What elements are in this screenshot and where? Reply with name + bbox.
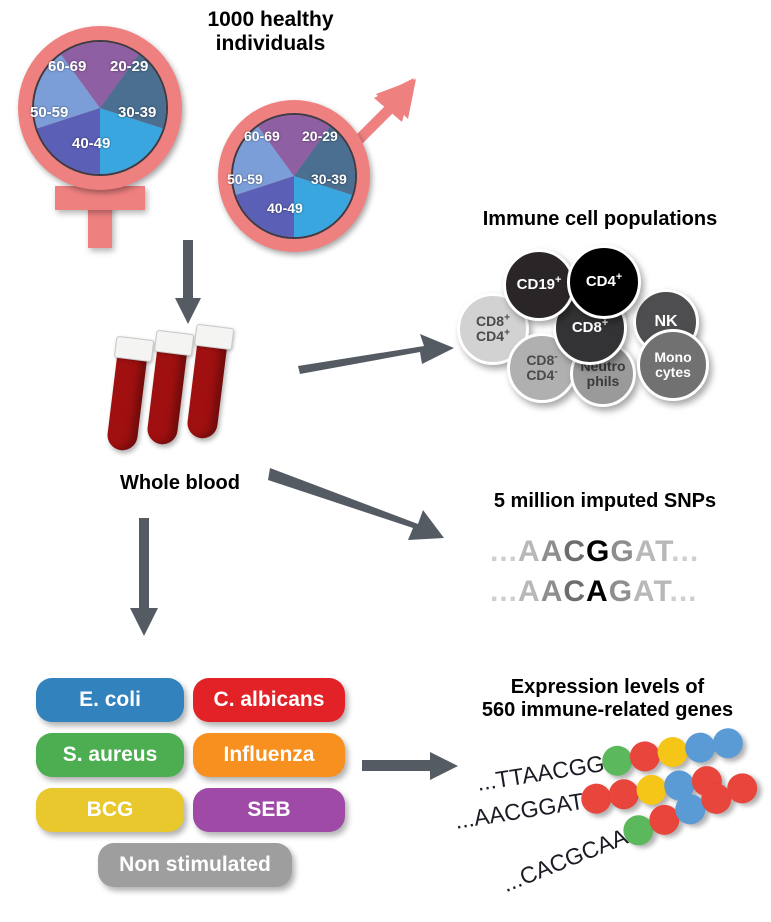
cell-cd4pos: CD4+: [567, 245, 641, 319]
pie-label-30-39: 30-39: [118, 104, 156, 121]
gene-strands: ...TTAACGG ...AACGGAT ...CACGCAA: [455, 740, 765, 910]
snps-title: 5 million imputed SNPs: [450, 490, 760, 513]
pie-label-40-49: 40-49: [267, 200, 303, 216]
cell-monocytes: Mono cytes: [637, 329, 709, 401]
cell-label: CD19+: [517, 277, 562, 293]
expression-title-line2: 560 immune-related genes: [450, 699, 765, 722]
snp-dots-left: ...: [490, 575, 518, 608]
gene-bead: [607, 777, 641, 811]
stimulus-e-coli[interactable]: E. coli: [36, 678, 184, 722]
snp-variant-1: G: [586, 535, 610, 568]
stimulus-label: Non stimulated: [119, 853, 271, 877]
snp-sequence-2: ...AACAGAT...: [490, 575, 698, 609]
stimulus-label: E. coli: [79, 688, 141, 712]
pie-label-60-69: 60-69: [48, 58, 86, 75]
gene-bead: [683, 731, 717, 765]
immune-cell-cluster: CD8+ CD4+ CD8- CD4- Neutro phils NK Mono…: [455, 245, 755, 425]
cell-label: CD8+: [572, 320, 608, 336]
expression-title: Expression levels of 560 immune-related …: [450, 676, 765, 722]
cell-label: Mono cytes: [654, 350, 691, 379]
cell-label: NK: [654, 314, 677, 331]
strand-sequence: ...CACGCAA: [498, 823, 631, 898]
female-gender-symbol: 20-29 30-39 40-49 50-59 60-69: [10, 18, 200, 248]
pie-label-20-29: 20-29: [302, 128, 338, 144]
stimulus-label: S. aureus: [63, 743, 158, 767]
whole-blood-label: Whole blood: [80, 472, 280, 495]
stimulus-influenza[interactable]: Influenza: [193, 733, 345, 777]
cell-label: CD8+ CD4+: [476, 314, 510, 343]
gene-bead: [710, 726, 744, 760]
stimulus-c-albicans[interactable]: C. albicans: [193, 678, 345, 722]
gene-bead: [655, 735, 689, 769]
gene-bead: [634, 773, 668, 807]
pie-label-60-69: 60-69: [244, 128, 280, 144]
stimulus-label: BCG: [87, 798, 134, 822]
pie-label-40-49: 40-49: [72, 135, 110, 152]
arrow-blood-to-immune: [296, 330, 456, 380]
cell-label: CD4+: [586, 274, 622, 290]
gene-bead: [627, 739, 661, 773]
cell-cd19pos: CD19+: [503, 249, 575, 321]
stimulus-label: SEB: [247, 798, 290, 822]
expression-title-line1: Expression levels of: [450, 676, 765, 699]
male-gender-symbol: 20-29 30-39 40-49 50-59 60-69: [198, 62, 428, 252]
whole-blood-tubes: [110, 335, 250, 455]
stimulus-label: Influenza: [223, 743, 314, 767]
snp-dots-right: ...: [670, 575, 698, 608]
pie-label-20-29: 20-29: [110, 58, 148, 75]
snp-variant-2: A: [586, 575, 609, 608]
strand-sequence: ...AACGGAT: [453, 787, 586, 834]
snp-dots-right: ...: [671, 535, 699, 568]
stimulus-s-aureus[interactable]: S. aureus: [36, 733, 184, 777]
stimulus-label: C. albicans: [214, 688, 325, 712]
pie-label-50-59: 50-59: [30, 104, 68, 121]
arrow-blood-to-snps: [268, 448, 448, 548]
stimulus-seb[interactable]: SEB: [193, 788, 345, 832]
stimulus-non-stimulated[interactable]: Non stimulated: [98, 843, 292, 887]
cell-label: CD8- CD4-: [526, 353, 557, 382]
snp-dots-left: ...: [490, 535, 518, 568]
pie-label-50-59: 50-59: [227, 171, 263, 187]
stimulus-bcg[interactable]: BCG: [36, 788, 184, 832]
immune-populations-title: Immune cell populations: [440, 208, 760, 231]
pie-label-30-39: 30-39: [311, 171, 347, 187]
snp-sequence-1: ...AACGGAT...: [490, 535, 699, 569]
stimuli-grid: E. coli C. albicans S. aureus Influenza …: [36, 678, 346, 893]
